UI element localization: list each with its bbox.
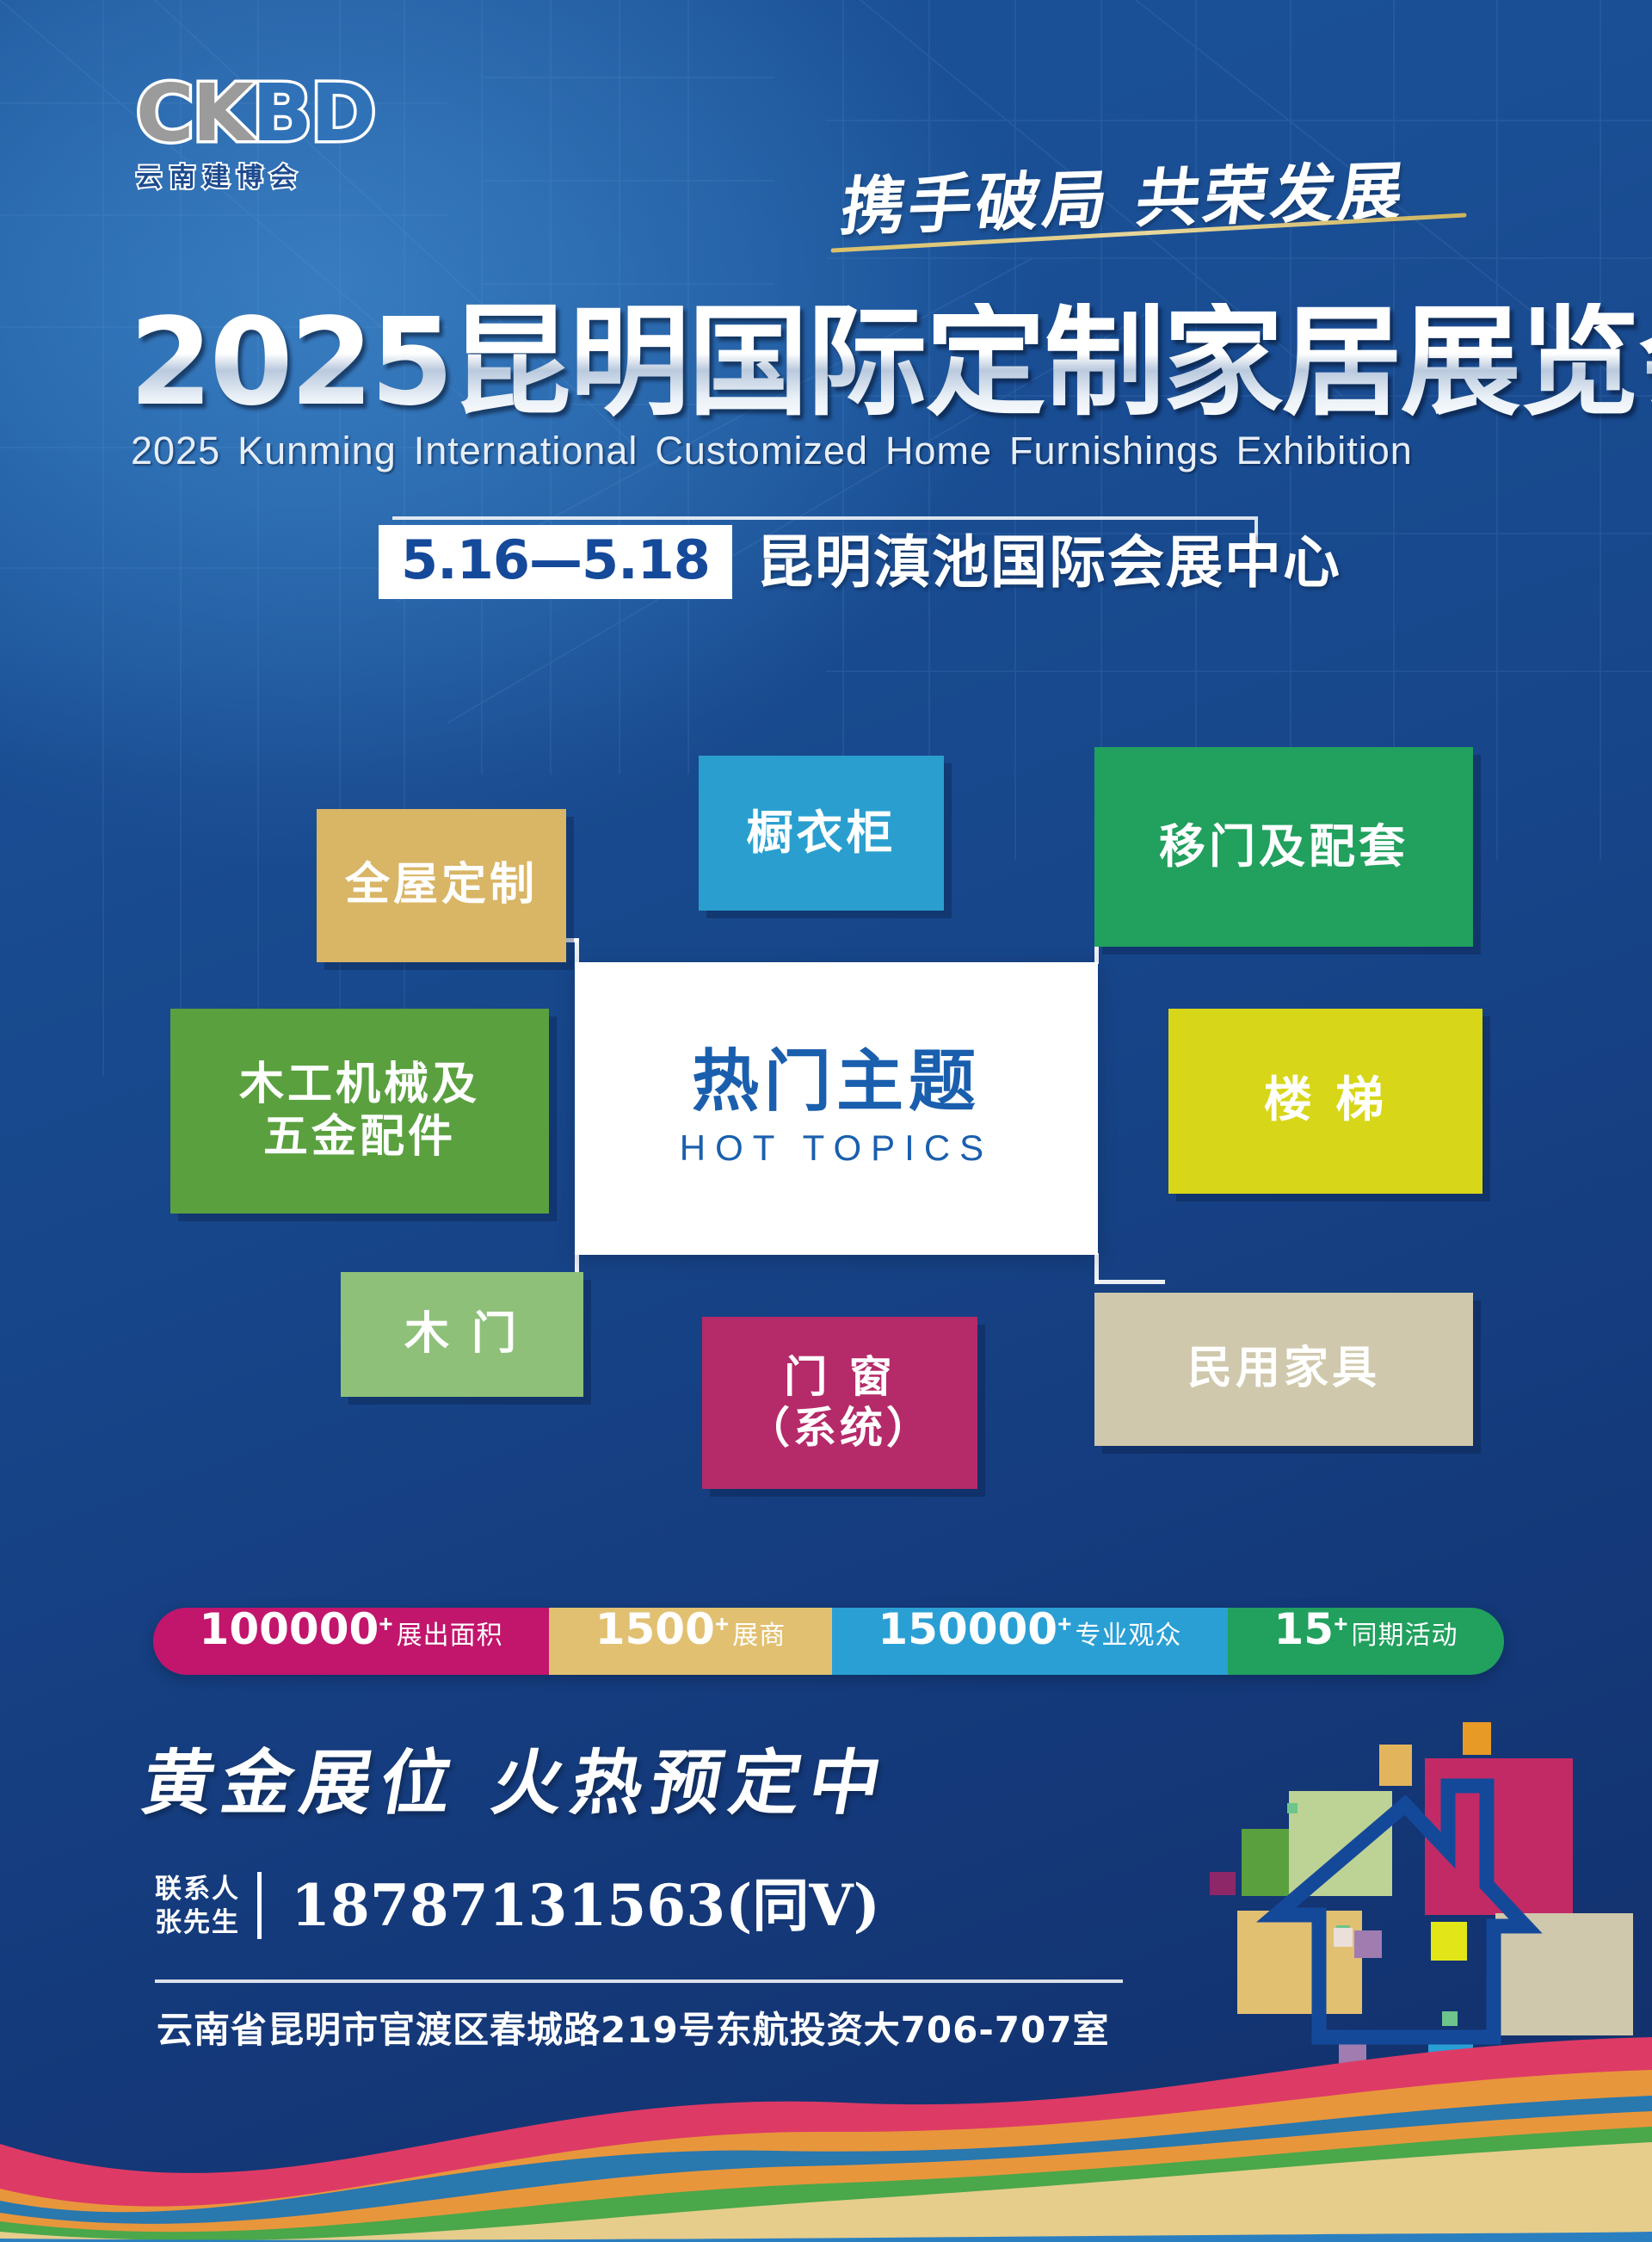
stat-number: 150000 xyxy=(878,1608,1057,1651)
title-en-word: International xyxy=(414,429,638,472)
hot-topic-label: 橱衣柜 xyxy=(747,806,897,861)
hot-topic-tile[interactable]: 楼 梯 xyxy=(1168,1009,1482,1194)
date-venue-row: 5.16—5.18 昆明滇池国际会展中心 xyxy=(379,525,1341,599)
hot-topic-label: 木 门 xyxy=(404,1308,520,1361)
hot-topic-label: 门 窗（系统） xyxy=(747,1352,933,1454)
stat-plus: + xyxy=(1334,1610,1347,1638)
title-en-word: 2025 xyxy=(131,429,220,472)
stat-number: 15 xyxy=(1274,1608,1335,1651)
connector-bot-right-h xyxy=(1094,1280,1165,1284)
hot-topic-tile[interactable]: 木 门 xyxy=(341,1272,583,1397)
logo-wordmark: CKBD xyxy=(136,76,374,151)
hot-topic-tile[interactable]: 全屋定制 xyxy=(317,809,566,962)
logo-bd: BD xyxy=(252,67,375,159)
hot-topic-tile[interactable]: 移门及配套 xyxy=(1094,747,1473,947)
hot-topic-label: 木工机械及五金配件 xyxy=(239,1059,480,1164)
poster-root: CKBD 云南建博会 携手破局 共荣发展 2025昆明国际定制家居展览会 202… xyxy=(0,0,1652,2242)
hot-topics-title-cn: 热门主题 xyxy=(692,1048,981,1115)
stat-plus: + xyxy=(379,1610,392,1638)
hot-topic-label: 移门及配套 xyxy=(1159,819,1409,874)
hot-topic-tile[interactable]: 门 窗（系统） xyxy=(702,1317,977,1489)
title-main: 昆明国际定制家居展览会 xyxy=(451,293,1652,433)
ckbd-logo: CKBD 云南建博会 xyxy=(136,76,463,194)
stat-number: 1500 xyxy=(595,1608,715,1651)
stat-item: 15+同期活动 xyxy=(1228,1608,1504,1675)
stat-plus: + xyxy=(715,1610,729,1638)
house-illustration xyxy=(1151,1708,1646,2070)
hot-topic-tile[interactable]: 民用家具 xyxy=(1094,1293,1473,1446)
stat-label: 展商 xyxy=(732,1614,786,1652)
hot-topic-label: 全屋定制 xyxy=(345,859,538,911)
hot-topic-label: 民用家具 xyxy=(1187,1343,1380,1395)
hot-topic-label: 楼 梯 xyxy=(1264,1072,1388,1129)
title-en-word: Exhibition xyxy=(1236,429,1413,472)
page-title-english: 2025KunmingInternationalCustomizedHomeFu… xyxy=(131,429,1430,473)
contact-row: 联系人 张先生 18787131563(同V) xyxy=(155,1872,880,1939)
title-year: 2025 xyxy=(129,293,451,433)
stat-item: 100000+展出面积 xyxy=(153,1608,549,1675)
date-badge: 5.16—5.18 xyxy=(379,525,732,599)
cta-headline: 黄金展位 火热预定中 xyxy=(136,1726,900,1828)
contact-label-line2: 张先生 xyxy=(155,1905,240,1939)
stat-item: 150000+专业观众 xyxy=(832,1608,1228,1675)
hot-topic-tile[interactable]: 木工机械及五金配件 xyxy=(170,1009,549,1214)
hot-topic-tile[interactable]: 橱衣柜 xyxy=(699,756,944,911)
stat-plus: + xyxy=(1057,1610,1071,1638)
venue-name: 昆明滇池国际会展中心 xyxy=(756,525,1341,599)
title-en-word: Furnishings xyxy=(1009,429,1219,472)
contact-phone[interactable]: 18787131563(同V) xyxy=(291,1877,880,1934)
hot-topics-title-en: HOT TOPICS xyxy=(680,1127,993,1169)
stats-bar: 100000+展出面积1500+展商150000+专业观众15+同期活动 xyxy=(153,1608,1504,1675)
logo-subtitle: 云南建博会 xyxy=(136,156,463,194)
page-title: 2025昆明国际定制家居展览会 xyxy=(129,303,1652,423)
title-en-word: Home xyxy=(885,429,992,472)
bottom-wave-decoration xyxy=(0,2035,1652,2242)
stat-item: 1500+展商 xyxy=(549,1608,832,1675)
hot-topics-center: 热门主题 HOT TOPICS xyxy=(575,962,1098,1255)
contact-label: 联系人 张先生 xyxy=(155,1872,262,1939)
title-en-word: Customized xyxy=(655,429,868,472)
logo-ck: CK xyxy=(136,67,252,159)
stat-label: 同期活动 xyxy=(1351,1614,1458,1652)
stat-number: 100000 xyxy=(200,1608,379,1651)
contact-label-line1: 联系人 xyxy=(155,1872,240,1905)
title-en-word: Kunming xyxy=(237,429,397,472)
stat-label: 展出面积 xyxy=(397,1614,503,1652)
stat-label: 专业观众 xyxy=(1075,1614,1181,1652)
address-divider xyxy=(155,1980,1123,1983)
